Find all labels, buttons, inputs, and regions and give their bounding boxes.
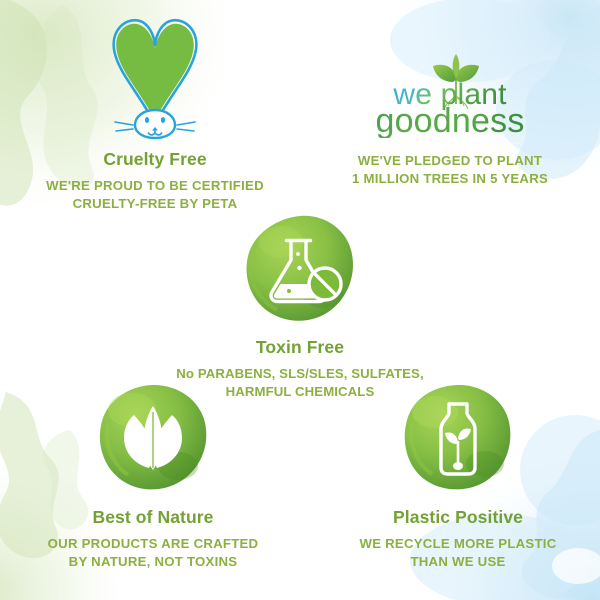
plastic-positive-badge — [318, 382, 598, 498]
toxin-free-badge — [150, 212, 450, 328]
block-title: Best of Nature — [8, 507, 298, 528]
leaves-icon — [94, 382, 212, 498]
block-description: OUR PRODUCTS ARE CRAFTED BY NATURE, NOT … — [8, 535, 298, 570]
block-title: Plastic Positive — [318, 507, 598, 528]
block-plastic-positive: Plastic Positive WE RECYCLE MORE PLASTIC… — [318, 382, 598, 570]
poster-content: Cruelty Free WE'RE PROUD TO BE CERTIFIED… — [0, 0, 600, 600]
bottle-sprout-icon — [399, 382, 517, 498]
peta-bunny-icon — [99, 12, 211, 140]
block-title: Cruelty Free — [0, 149, 310, 170]
block-description: WE RECYCLE MORE PLASTIC THAN WE USE — [318, 535, 598, 570]
block-we-plant-goodness: we plant goodness WE'VE PLEDGED TO PLANT… — [300, 52, 600, 187]
logo-line-2: goodness — [375, 102, 524, 138]
block-best-of-nature: Best of Nature OUR PRODUCTS ARE CRAFTED … — [8, 382, 298, 570]
we-plant-goodness-logo: we plant goodness — [300, 52, 600, 138]
block-description: WE'RE PROUD TO BE CERTIFIED CRUELTY-FREE… — [0, 177, 310, 212]
block-description: WE'VE PLEDGED TO PLANT 1 MILLION TREES I… — [300, 152, 600, 187]
best-of-nature-badge — [8, 382, 298, 498]
flask-no-entry-icon — [241, 212, 359, 328]
block-toxin-free: Toxin Free No PARABENS, SLS/SLES, SULFAT… — [150, 212, 450, 400]
block-cruelty-free: Cruelty Free WE'RE PROUD TO BE CERTIFIED… — [0, 12, 310, 212]
block-title: Toxin Free — [150, 337, 450, 358]
peta-bunny-badge — [0, 12, 310, 140]
we-plant-goodness-logo-icon: we plant goodness — [355, 52, 545, 138]
